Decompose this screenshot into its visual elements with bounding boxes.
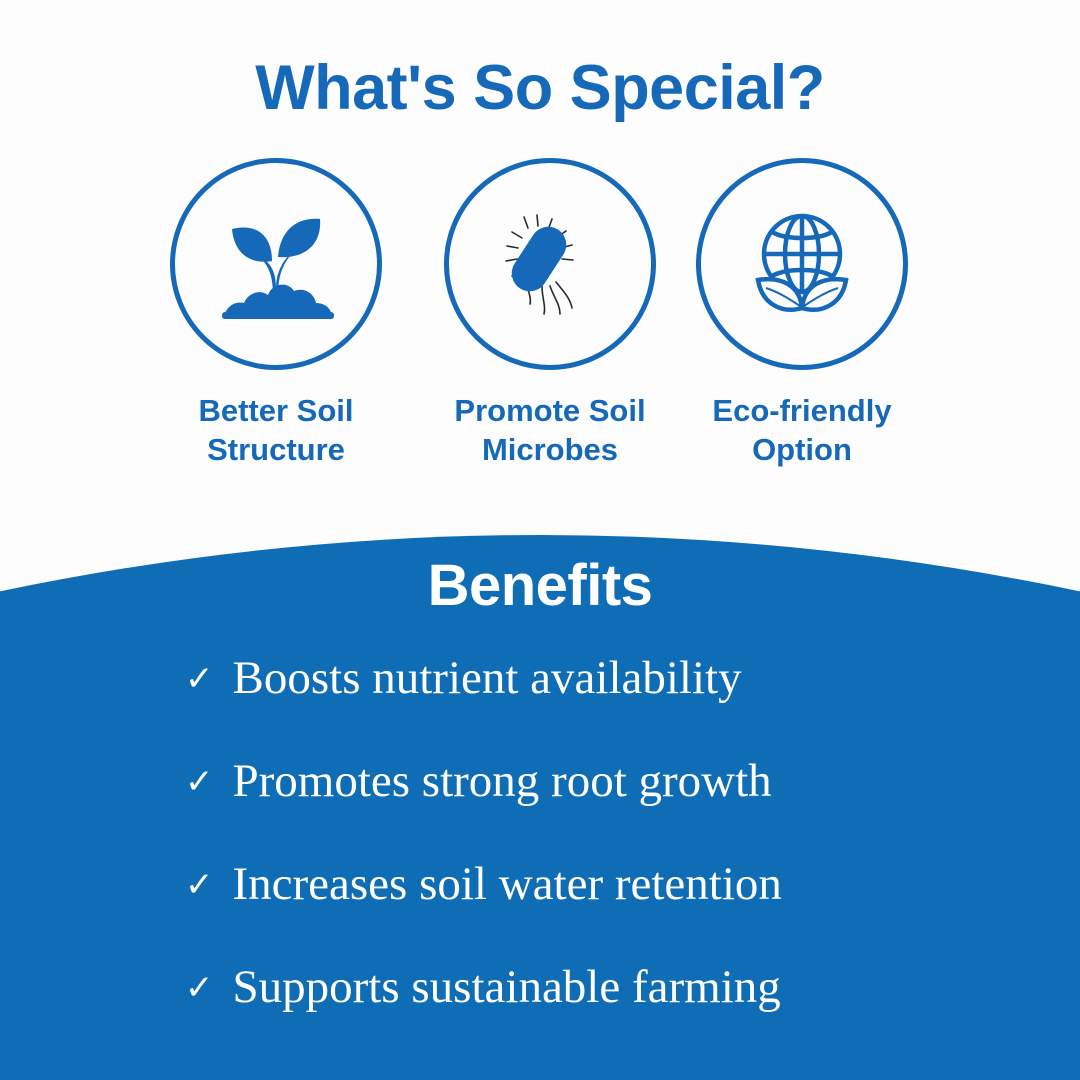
feature-icon-circle: [170, 158, 382, 370]
benefits-list: ✓ Boosts nutrient availability ✓ Promote…: [0, 655, 1080, 1067]
benefit-list-item: ✓ Supports sustainable farming: [185, 964, 1080, 1067]
feature-label-line-1: Eco-friendly: [712, 393, 891, 428]
feature-label: Better Soil Structure: [156, 392, 396, 470]
infographic-poster: What's So Special?: [0, 0, 1080, 1080]
feature-label: Eco-friendly Option: [682, 392, 922, 470]
page-title: What's So Special?: [0, 52, 1080, 124]
feature-icon-circle: [696, 158, 908, 370]
benefit-text: Increases soil water retention: [233, 861, 782, 908]
benefits-title: Benefits: [0, 552, 1080, 619]
check-icon: ✓: [185, 765, 214, 799]
feature-item-promote-soil-microbes: Promote Soil Microbes: [430, 158, 670, 470]
benefit-list-item: ✓ Promotes strong root growth: [185, 758, 1080, 861]
sprout-soil-icon: [214, 205, 338, 323]
globe-leaves-eco-icon: [738, 204, 866, 324]
benefit-text: Boosts nutrient availability: [233, 655, 742, 702]
feature-item-better-soil-structure: Better Soil Structure: [156, 158, 396, 470]
special-features-section: What's So Special?: [0, 0, 1080, 520]
benefit-text: Supports sustainable farming: [233, 964, 781, 1011]
benefits-content: Benefits ✓ Boosts nutrient availability …: [0, 552, 1080, 1080]
feature-item-eco-friendly-option: Eco-friendly Option: [682, 158, 922, 470]
feature-list: Better Soil Structure: [0, 158, 1080, 488]
check-icon: ✓: [185, 868, 214, 902]
feature-label-line-1: Better Soil: [198, 393, 353, 428]
feature-label-line-2: Microbes: [482, 432, 618, 467]
feature-icon-circle: [444, 158, 656, 370]
check-icon: ✓: [185, 662, 214, 696]
benefit-list-item: ✓ Boosts nutrient availability: [185, 655, 1080, 758]
feature-label-line-2: Option: [752, 432, 852, 467]
feature-label-line-2: Structure: [207, 432, 345, 467]
feature-label: Promote Soil Microbes: [430, 392, 670, 470]
benefit-text: Promotes strong root growth: [233, 758, 772, 805]
check-icon: ✓: [185, 971, 214, 1005]
benefit-list-item: ✓ Increases soil water retention: [185, 861, 1080, 964]
feature-label-line-1: Promote Soil: [454, 393, 645, 428]
bacteria-microbe-icon: [488, 202, 612, 326]
